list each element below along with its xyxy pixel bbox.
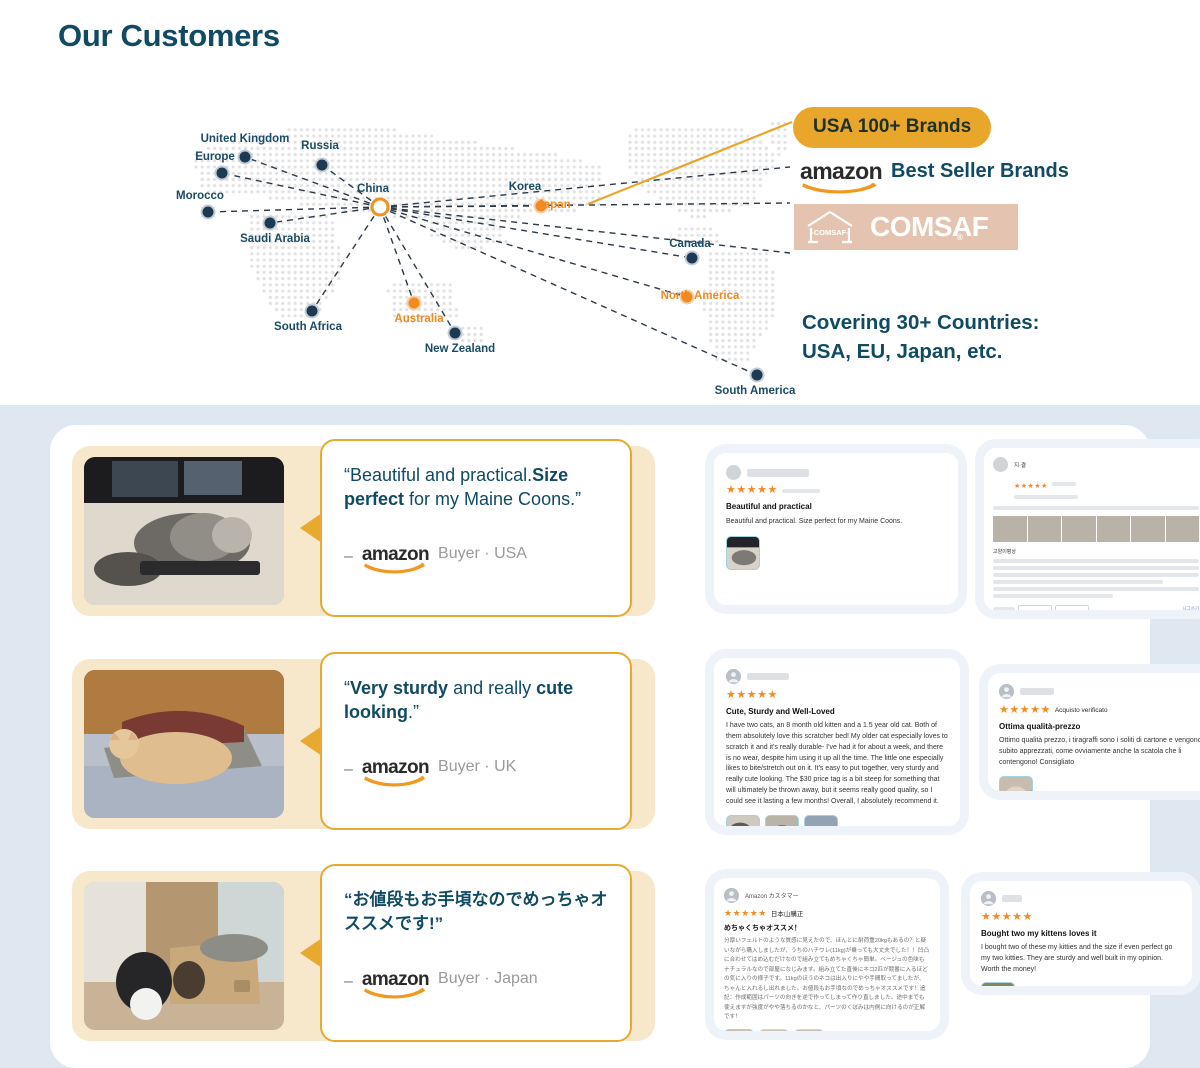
review-header [999, 684, 1200, 699]
bubble-tail [300, 726, 322, 756]
map-connection-line [312, 207, 380, 311]
quote-attribution: – amazon Buyer · Japan [344, 970, 538, 996]
body-blurred [993, 573, 1199, 577]
avatar [981, 891, 996, 906]
map-label-russia: Russia [301, 140, 339, 152]
person-icon [999, 684, 1014, 699]
map-label-china: China [357, 183, 389, 195]
meta-blurred [1052, 482, 1076, 486]
action-button[interactable] [1018, 605, 1052, 610]
testimonial-card: “Beautiful and practical.Size perfect fo… [72, 446, 655, 616]
body-blurred [993, 594, 1113, 598]
review-header [726, 465, 946, 480]
map-label-saudi-arabia: Saudi Arabia [240, 233, 310, 245]
thumbnail-image [766, 816, 798, 826]
review-title: めちゃくちゃオススメ！ [724, 923, 930, 933]
amazon-logo: amazon [362, 758, 429, 784]
testimonial-row: “Very sturdy and really cute looking.” –… [50, 651, 1150, 847]
review-title: 고양이평상 [993, 548, 1199, 555]
review-thumbnail[interactable] [999, 776, 1033, 791]
review-header [726, 669, 948, 684]
thumbnail-image [725, 1030, 753, 1032]
meta-blurred [1014, 495, 1078, 499]
review-thumbnail[interactable] [724, 1029, 754, 1032]
person-icon [724, 888, 739, 903]
attrib-dash: – [344, 970, 353, 994]
map-label-morocco: Morocco [176, 190, 224, 202]
star-rating: ★★★★★ [999, 705, 1051, 716]
reviewer-name: 지·결 [1014, 461, 1026, 469]
footer-link[interactable]: 니그쓰기 [1182, 606, 1199, 610]
avatar [724, 888, 739, 903]
testimonial-card: “お値段もお手頃なのでめっちゃオススメです!” – amazon Buyer ·… [72, 871, 655, 1041]
comsaf-house-icon: -COMSAF- [804, 209, 856, 245]
review-header [981, 891, 1181, 906]
review-title: Beautiful and practical [726, 502, 946, 511]
map-connection-line [245, 157, 380, 207]
cats-with-cardboard-house-photo [84, 882, 284, 1030]
map-label-korea: Korea [509, 181, 542, 193]
quote-bubble: “お値段もお手頃なのでめっちゃオススメです!” – amazon Buyer ·… [320, 864, 632, 1042]
quote-text: “お値段もお手頃なのでめっちゃオススメです!” [344, 888, 612, 936]
comsaf-logo-band: -COMSAF- COMSAF ® [794, 204, 1018, 250]
bubble-tail [300, 513, 322, 543]
ginger-cat-photo [84, 670, 284, 818]
thumbnail-image [795, 1030, 823, 1032]
review-thumbnail[interactable] [981, 982, 1015, 986]
map-label-europe: Europe [195, 151, 235, 163]
review-thumbnail[interactable] [804, 815, 838, 826]
map-label-canada: Canada [669, 238, 711, 250]
review-header: Amazon カスタマー [724, 888, 930, 903]
quote-attribution: – amazon Buyer · UK [344, 758, 516, 784]
comsaf-wordmark-text: COMSAF [870, 211, 988, 242]
amazon-smile-icon [364, 986, 426, 997]
testimonials-section: “Beautiful and practical.Size perfect fo… [0, 405, 1200, 1068]
avatar [726, 465, 741, 480]
review-screenshot-card-japanese: Amazon カスタマー ★★★★★ 日本山購正 めちゃくちゃオススメ！ 分厚い… [714, 878, 940, 1031]
map-label-south-america: South America [715, 385, 796, 397]
page-title: Our Customers [58, 18, 280, 54]
bubble-tail [300, 938, 322, 968]
map-label-north-america: North America [661, 290, 740, 302]
thumbnail-image [760, 1030, 788, 1032]
comsaf-house-text: -COMSAF- [811, 228, 849, 237]
amazon-best-seller-lockup: amazon Best Seller Brands [800, 160, 1069, 191]
quote-bubble: “Beautiful and practical.Size perfect fo… [320, 439, 632, 617]
testimonial-row: “Beautiful and practical.Size perfect fo… [50, 438, 1150, 634]
usa-brands-badge: USA 100+ Brands [793, 107, 991, 148]
review-thumbnail[interactable] [726, 536, 760, 570]
avatar [726, 669, 741, 684]
review-thumbnail[interactable] [726, 815, 760, 826]
review-thumbnail[interactable] [765, 815, 799, 826]
review-screenshot-card: ★★★★★ Bought two my kittens loves it I b… [970, 881, 1192, 986]
body-blurred [993, 580, 1163, 584]
attrib-dash: – [344, 758, 353, 782]
review-body: I bought two of these my kitties and the… [981, 943, 1181, 976]
covering-countries-label: Covering 30+ Countries: USA, EU, Japan, … [802, 308, 1040, 366]
star-rating: ★★★★★ [724, 909, 767, 918]
avatar [999, 684, 1014, 699]
person-icon [726, 669, 741, 684]
quote-lead: “Beautiful and practical. [344, 465, 532, 485]
testimonial-card: “Very sturdy and really cute looking.” –… [72, 659, 655, 829]
best-seller-brands-label: Best Seller Brands [891, 160, 1069, 183]
body-blurred [993, 566, 1199, 570]
map-label-united-kingdom: United Kingdom [201, 133, 290, 145]
thumbnail-image [727, 537, 759, 569]
quote-emphasis: Very sturdy [350, 678, 448, 698]
amazon-logo: amazon [800, 160, 882, 191]
review-screenshot-card: ★★★★★ Beautiful and practical Beautiful … [714, 453, 958, 605]
thumbnail-image [805, 816, 837, 826]
review-screenshot-card: ★★★★★ Cute, Sturdy and Well-Loved I have… [714, 658, 960, 826]
review-photo-strip [993, 516, 1199, 542]
customer-photo [84, 670, 284, 818]
buyer-origin: Buyer · Japan [438, 970, 538, 988]
review-title: Ottima qualità-prezzo [999, 722, 1200, 731]
quote-tail: for my Maine Coons.” [404, 489, 581, 509]
cat-on-scratcher-photo [84, 457, 284, 605]
quote-text: “Beautiful and practical.Size perfect fo… [344, 463, 612, 511]
person-icon [981, 891, 996, 906]
star-rating: ★★★★★ [726, 485, 778, 496]
amazon-smile-icon [802, 181, 877, 192]
customer-photo [84, 882, 284, 1030]
reviewer-name-blurred [747, 673, 789, 680]
review-thumbnail[interactable] [759, 1029, 789, 1032]
star-rating: ★★★★★ [726, 690, 948, 701]
meta-blurred [993, 607, 1015, 611]
verified-purchase-label: 日本山購正 [771, 908, 804, 918]
thumbnail-image [982, 983, 1014, 986]
review-body: Beautiful and practical. Size perfect fo… [726, 517, 946, 528]
top-section: Our Customers ChinaUnited KingdomRussiaE… [0, 0, 1200, 405]
customer-photo [84, 457, 284, 605]
review-screenshot-card-korean: 지·결 ★★★★★ 고양이평상 [984, 448, 1200, 610]
reviewer-name-blurred [747, 469, 809, 477]
review-screenshot-card-italian: ★★★★★ Acquisto verificato Ottima qualità… [988, 673, 1200, 791]
quote-attribution: – amazon Buyer · USA [344, 545, 527, 571]
quote-bubble: “Very sturdy and really cute looking.” –… [320, 652, 632, 830]
amazon-logo: amazon [362, 970, 429, 996]
review-body: I have two cats, an 8 month old kitten a… [726, 721, 948, 808]
body-blurred [993, 587, 1199, 591]
avatar [993, 457, 1008, 472]
review-thumbnail[interactable] [794, 1029, 824, 1032]
amazon-smile-icon [364, 561, 426, 572]
review-header: 지·결 [993, 457, 1199, 472]
quote-middle: and really [448, 678, 536, 698]
amazon-smile-icon [364, 774, 426, 785]
testimonials-panel: “Beautiful and practical.Size perfect fo… [50, 425, 1150, 1068]
map-label-south-africa: South Africa [274, 321, 342, 333]
meta-blurred [782, 489, 820, 493]
comsaf-wordmark: COMSAF ® [870, 213, 988, 241]
action-button[interactable] [1055, 605, 1089, 610]
review-title: Cute, Sturdy and Well-Loved [726, 707, 948, 716]
review-title: Bought two my kittens loves it [981, 929, 1181, 938]
body-blurred [993, 506, 1199, 510]
buyer-origin: Buyer · UK [438, 758, 516, 776]
thumbnail-image [727, 816, 759, 826]
star-rating: ★★★★★ [1014, 483, 1048, 490]
review-body: 分厚いフェルトのような質感に見えたので、ほんとに耐荷重20kgもあるの？と疑いな… [724, 937, 930, 1023]
reviewer-name: Amazon カスタマー [745, 891, 799, 900]
map-label-japan: Japan [537, 199, 570, 211]
map-label-new-zealand: New Zealand [425, 343, 495, 355]
buyer-origin: Buyer · USA [438, 545, 527, 563]
reviewer-name-blurred [1002, 895, 1022, 902]
amazon-logo: amazon [362, 545, 429, 571]
thumbnail-image [1000, 777, 1032, 791]
body-blurred [993, 559, 1199, 563]
reviewer-name-blurred [1020, 688, 1054, 695]
verified-purchase-label: Acquisto verificato [1055, 707, 1108, 714]
testimonial-row: “お値段もお手頃なのでめっちゃオススメです!” – amazon Buyer ·… [50, 863, 1150, 1059]
attrib-dash: – [344, 545, 353, 569]
star-rating: ★★★★★ [981, 912, 1181, 923]
registered-mark: ® [957, 234, 962, 242]
quote-tail: .” [408, 702, 419, 722]
review-body: Ottimo qualità prezzo, i tiragraffi sono… [999, 736, 1200, 769]
quote-text: “Very sturdy and really cute looking.” [344, 676, 612, 724]
map-label-australia: Australia [394, 313, 443, 325]
